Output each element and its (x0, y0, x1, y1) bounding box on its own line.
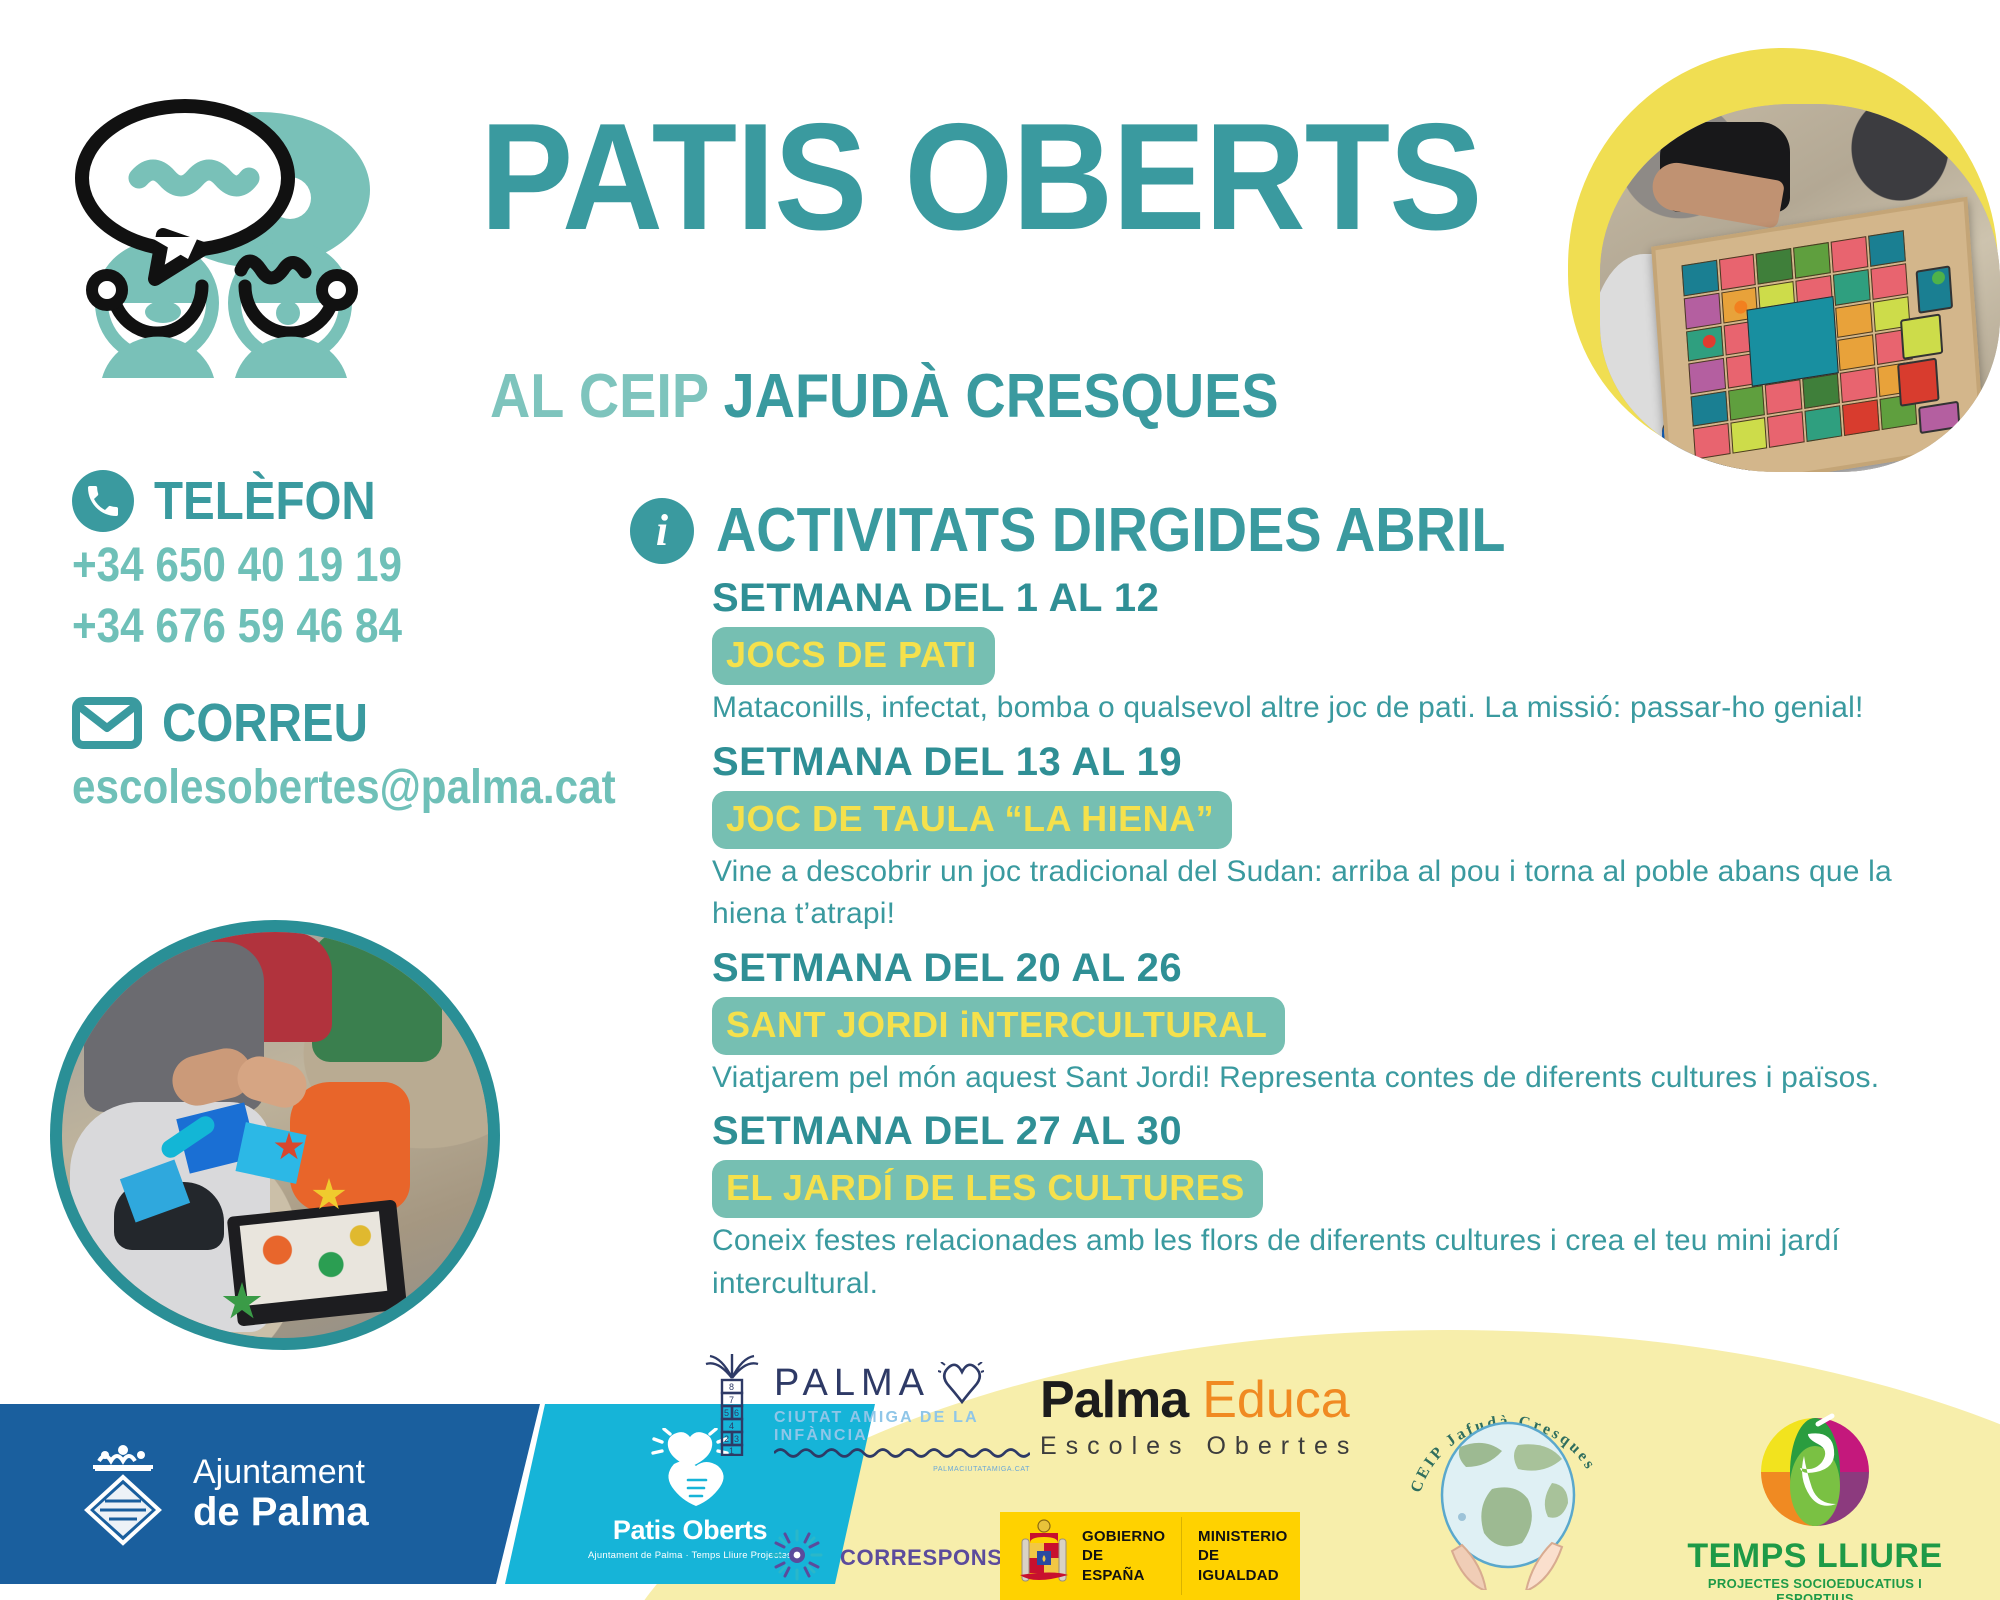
week-block-2: SETMANA DEL 13 AL 19 JOC DE TAULA “LA HI… (712, 740, 1960, 936)
email-label: CORREU (162, 692, 368, 754)
ceip-jafuda-cresques-logo: CEIP Jafudà Cresques (1400, 1385, 1615, 1590)
week-block-3: SETMANA DEL 20 AL 26 SANT JORDI iNTERCUL… (712, 946, 1960, 1100)
photo-craft-activity (62, 932, 488, 1338)
phone-value-2[interactable]: +34 676 59 46 84 (72, 599, 530, 654)
patis-oberts-tagline: Ajuntament de Palma · Temps Lliure Proje… (588, 1550, 792, 1561)
week-title: SETMANA DEL 13 AL 19 (712, 740, 1960, 785)
phone-icon (72, 470, 134, 532)
hopscotch-palm-tree-icon: 87 56 423 1 (700, 1352, 764, 1461)
photo-craft-mat (227, 1199, 408, 1326)
activities-section: i ACTIVITATS DIRGIDES ABRIL SETMANA DEL … (630, 495, 1960, 1306)
activity-description: Vine a descobrir un joc tradicional del … (712, 851, 1960, 936)
photo-cardboard-board-game (1651, 197, 1985, 472)
phone-row: TELÈFON (72, 470, 592, 532)
activity-badge: EL JARDÍ DE LES CULTURES (712, 1160, 1263, 1218)
temps-lliure-logo: TEMPS LLIURE PROJECTES SOCIOEDUCATIUS I … (1670, 1412, 1960, 1600)
week-title: SETMANA DEL 20 AL 26 (712, 946, 1960, 991)
temps-lliure-name: TEMPS LLIURE (1670, 1537, 1960, 1576)
palma-educa-logo: Palma Educa Escoles Obertes (1040, 1370, 1358, 1461)
gobierno-de-espana-logo: GOBIERNO DE ESPAÑA MINISTERIO DE IGUALDA… (1000, 1512, 1300, 1600)
envelope-icon (72, 697, 142, 749)
phone-value-1[interactable]: +34 650 40 19 19 (72, 538, 530, 593)
activity-description: Coneix festes relacionades amb les flors… (712, 1220, 1960, 1305)
contact-block: TELÈFON +34 650 40 19 19 +34 676 59 46 8… (72, 470, 592, 815)
activity-badge: SANT JORDI iNTERCULTURAL (712, 997, 1285, 1055)
globe-in-hands-icon: CEIP Jafudà Cresques (1400, 1385, 1615, 1590)
svg-text:1: 1 (729, 1446, 734, 1456)
ajuntament-line2: de Palma (193, 1491, 369, 1533)
title-text: PATIS OBERTS (480, 108, 1482, 248)
week-title: SETMANA DEL 1 AL 12 (712, 576, 1960, 621)
poster-root: PATIS OBERTS AL CEIP JAFUDÀ CRESQUES TEL… (0, 0, 2000, 1600)
svg-text:2: 2 (724, 1434, 729, 1444)
temps-lliure-circle-icon (1750, 1412, 1880, 1532)
ministerio-line1: MINISTERIO (1198, 1527, 1300, 1546)
palma-ciutat-url: PALMACIUTATAMIGA.CAT (774, 1466, 1030, 1473)
palma-ciutat-subtitle: CIUTAT AMIGA DE LA INFÀNCIA (774, 1409, 1030, 1445)
activity-description: Viatjarem pel món aquest Sant Jordi! Rep… (712, 1057, 1960, 1100)
page-subtitle: AL CEIP JAFUDÀ CRESQUES (490, 366, 1279, 428)
temps-lliure-subtitle: PROJECTES SOCIOEDUCATIUS I ESPORTIUS (1670, 1576, 1960, 1600)
burst-star-icon (770, 1528, 824, 1587)
email-value[interactable]: escolesobertes@palma.cat (72, 760, 530, 815)
gobierno-line1: GOBIERNO (1082, 1527, 1167, 1546)
gobierno-line2: DE ESPAÑA (1082, 1546, 1167, 1584)
patis-oberts-name: Patis Oberts (613, 1515, 767, 1546)
photo-orange-bag (290, 1082, 410, 1212)
svg-text:6: 6 (734, 1408, 739, 1418)
palma-educa-subtitle: Escoles Obertes (1040, 1432, 1358, 1461)
ministerio-line2: DE IGUALDAD (1198, 1546, 1300, 1584)
phone-label: TELÈFON (154, 470, 376, 532)
ajuntament-line1: Ajuntament (193, 1455, 369, 1491)
email-row: CORREU (72, 692, 592, 754)
page-title: PATIS OBERTS (480, 108, 1569, 248)
svg-text:4: 4 (729, 1421, 734, 1431)
subtitle-light: AL CEIP (490, 362, 708, 431)
board-letters (1891, 261, 1970, 437)
spain-coat-of-arms-icon (1000, 1517, 1082, 1596)
brand-logo (45, 60, 375, 380)
activities-title: ACTIVITATS DIRGIDES ABRIL (716, 495, 1505, 566)
activities-header: i ACTIVITATS DIRGIDES ABRIL (630, 495, 1960, 566)
activity-badge: JOCS DE PATI (712, 627, 995, 685)
week-block-1: SETMANA DEL 1 AL 12 JOCS DE PATI Matacon… (712, 576, 1960, 730)
subtitle-dark: JAFUDÀ CRESQUES (724, 362, 1279, 431)
activity-badge: JOC DE TAULA “LA HIENA” (712, 791, 1232, 849)
heart-icon (938, 1362, 984, 1409)
ajuntament-de-palma-logo: Ajuntament de Palma (0, 1404, 540, 1584)
palma-ciutat-amiga-logo: 87 56 423 1 PALMA (700, 1352, 1030, 1473)
palma-educa-part1: Palma (1040, 1370, 1188, 1430)
info-icon: i (630, 498, 694, 564)
week-title: SETMANA DEL 27 AL 30 (712, 1109, 1960, 1154)
wave-divider (774, 1445, 1030, 1461)
activity-description: Mataconills, infectat, bomba o qualsevol… (712, 687, 1960, 730)
palma-educa-part2: Educa (1202, 1370, 1349, 1430)
svg-text:8: 8 (729, 1382, 734, 1392)
photo-board-game (1600, 104, 2000, 472)
week-block-4: SETMANA DEL 27 AL 30 EL JARDÍ DE LES CUL… (712, 1109, 1960, 1305)
palma-coat-of-arms-icon (75, 1437, 171, 1552)
svg-text:7: 7 (729, 1395, 734, 1405)
svg-text:3: 3 (734, 1434, 739, 1444)
svg-text:5: 5 (724, 1408, 729, 1418)
board-center-pond (1747, 296, 1839, 387)
palma-word: PALMA (774, 1362, 930, 1405)
ajuntament-text: Ajuntament de Palma (193, 1455, 369, 1533)
